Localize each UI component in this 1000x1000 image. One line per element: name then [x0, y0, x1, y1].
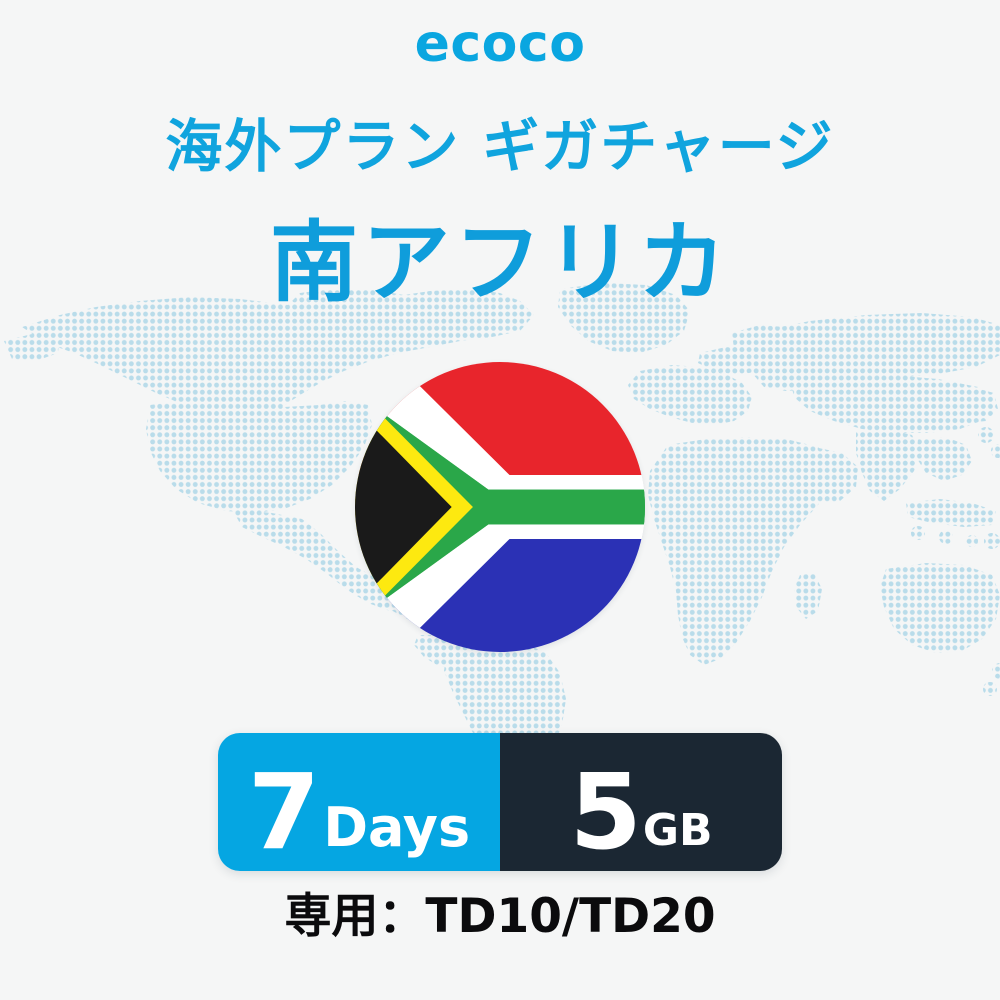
product-banner: ecoco 海外プラン ギガチャージ 南アフリカ 7 Da	[0, 0, 1000, 1000]
data-value: 5	[569, 770, 640, 855]
page-title: 南アフリカ	[0, 219, 1000, 307]
south-africa-flag-circle	[355, 362, 645, 652]
plan-badge: 7 Days 5 GB	[218, 733, 782, 871]
badge-days-section: 7 Days	[218, 733, 500, 871]
brand-logo: ecoco	[0, 18, 1000, 70]
plan-subtitle: 海外プラン ギガチャージ	[0, 119, 1000, 176]
days-value: 7	[248, 770, 319, 855]
badge-data-section: 5 GB	[500, 733, 782, 871]
data-unit: GB	[641, 810, 713, 855]
days-unit: Days	[319, 804, 470, 855]
compatible-devices-note: 専用：TD10/TD20	[0, 893, 1000, 940]
